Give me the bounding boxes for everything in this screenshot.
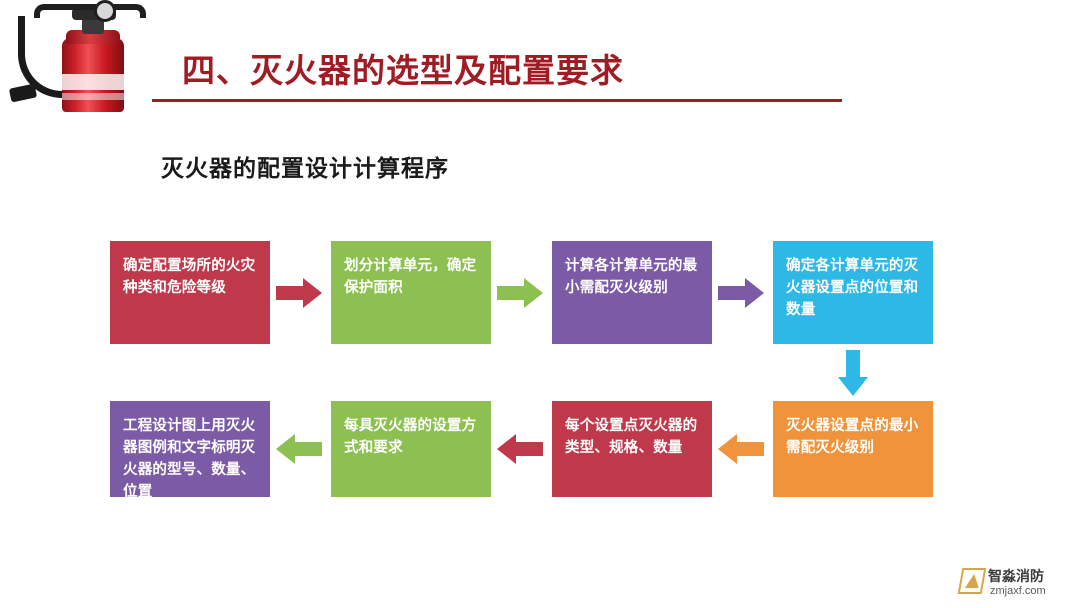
- arrow-left-icon: [276, 434, 322, 464]
- flow-node: 计算各计算单元的最小需配灭火级别: [552, 241, 712, 344]
- flow-node: 确定各计算单元的灭火器设置点的位置和数量: [773, 241, 933, 344]
- page-title: 四、灭火器的选型及配置要求: [182, 44, 624, 92]
- section-subtitle: 灭火器的配置设计计算程序: [161, 149, 449, 183]
- arrow-left-icon: [497, 434, 543, 464]
- watermark-brand-name: 智淼消防: [988, 566, 1044, 586]
- fire-extinguisher-icon: [10, 0, 175, 108]
- flow-node: 确定配置场所的火灾种类和危险等级: [110, 241, 270, 344]
- flow-node: 划分计算单元，确定保护面积: [331, 241, 491, 344]
- slide-header: 四、灭火器的选型及配置要求: [0, 0, 1080, 110]
- arrow-right-icon: [276, 278, 322, 308]
- extinguisher-nozzle: [9, 83, 37, 102]
- arrow-right-icon: [497, 278, 543, 308]
- watermark-url: zmjaxf.com: [990, 585, 1046, 597]
- flow-node: 每个设置点灭火器的类型、规格、数量: [552, 401, 712, 497]
- extinguisher-pressure-gauge: [94, 0, 116, 22]
- watermark: 智淼消防 zmjaxf.com: [960, 566, 1072, 600]
- extinguisher-handle: [34, 4, 146, 18]
- flow-node: 灭火器设置点的最小需配灭火级别: [773, 401, 933, 497]
- flow-node: 工程设计图上用灭火器图例和文字标明灭火器的型号、数量、位置: [110, 401, 270, 497]
- arrow-down-icon: [838, 350, 868, 396]
- arrow-right-icon: [718, 278, 764, 308]
- brand-logo-icon: [958, 568, 987, 594]
- flow-node: 每具灭火器的设置方式和要求: [331, 401, 491, 497]
- extinguisher-label: [62, 74, 124, 90]
- arrow-left-icon: [718, 434, 764, 464]
- title-underline-divider: [152, 99, 842, 102]
- extinguisher-label-secondary: [62, 93, 124, 100]
